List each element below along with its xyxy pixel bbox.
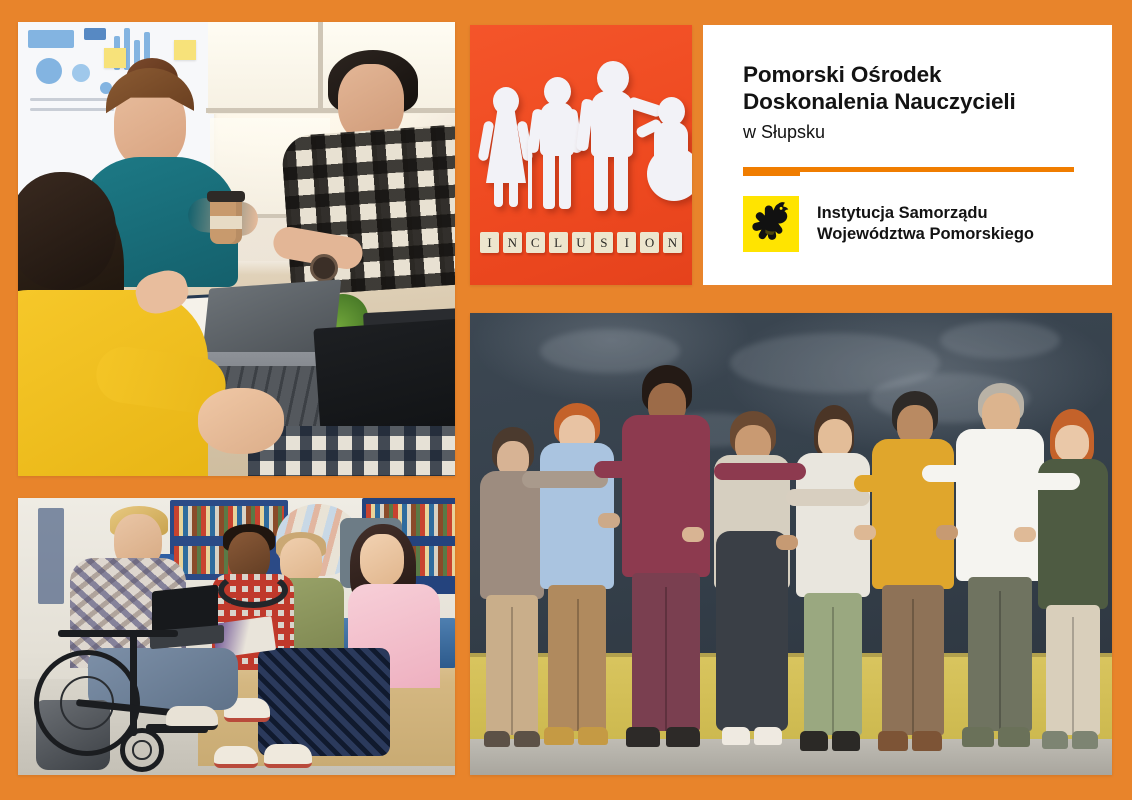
hand [682, 527, 704, 542]
hand [936, 525, 958, 540]
arm-link [786, 489, 870, 506]
tile-letter: O [640, 232, 659, 253]
tile-letter: U [572, 232, 591, 253]
paper-figure-girl-dress [484, 87, 528, 207]
photo-group-embrace [470, 313, 1112, 775]
hand [1014, 527, 1036, 542]
photo-team-meeting [18, 22, 455, 476]
group-person [792, 405, 874, 757]
arm-link [714, 463, 806, 480]
paper-figure-person-with-cane [534, 77, 580, 209]
organization-name-line1: Pomorski Ośrodek [743, 61, 1088, 88]
person-yellow-head [18, 172, 116, 290]
tile-letter: S [594, 232, 613, 253]
organization-logo-panel: Pomorski Ośrodek Doskonalenia Nauczyciel… [703, 25, 1112, 285]
orange-divider [743, 167, 1088, 176]
wristwatch [310, 254, 338, 282]
group-person [538, 403, 616, 757]
institution-name: Instytucja Samorządu Województwa Pomorsk… [817, 203, 1034, 247]
person-foreground-hand [198, 388, 284, 454]
group-person [870, 391, 958, 757]
organization-name: Pomorski Ośrodek Doskonalenia Nauczyciel… [743, 61, 1088, 116]
student-pink-head [360, 534, 404, 586]
tile-letter: I [617, 232, 636, 253]
inclusion-letter-tiles: I N C L U S I O N [480, 232, 682, 253]
hand [598, 513, 620, 528]
person-plaid-shirt [281, 124, 455, 297]
tile-letter: L [549, 232, 568, 253]
organization-name-line2: Doskonalenia Nauczycieli [743, 88, 1088, 115]
hand [776, 535, 798, 550]
tile-letter: N [503, 232, 522, 253]
organization-city: w Słupsku [743, 121, 1088, 144]
group-person [1036, 409, 1112, 757]
arm-link [994, 473, 1080, 490]
divider-thick-line [743, 167, 800, 176]
hand [854, 525, 876, 540]
tile-letter: I [480, 232, 499, 253]
coffee-cup [210, 198, 242, 244]
institution-name-line2: Województwa Pomorskiego [817, 224, 1034, 246]
pomeranian-griffin-crest-icon [743, 196, 799, 252]
student-patterned-trousers [258, 648, 390, 756]
headphones [218, 572, 288, 608]
group-person [954, 383, 1046, 757]
arm-link [594, 461, 690, 478]
collage-canvas: I N C L U S I O N Pomorski Ośrodek Dosko… [0, 0, 1132, 800]
photo-library-students [18, 498, 455, 775]
group-person [618, 365, 714, 757]
paper-figure-person-in-wheelchair [648, 97, 692, 213]
wheelchair-caster [120, 728, 164, 772]
institution-row: Instytucja Samorządu Województwa Pomorsk… [743, 196, 1088, 252]
inclusion-graphic-panel: I N C L U S I O N [470, 25, 692, 285]
tile-letter: N [663, 232, 682, 253]
paper-figure-tall-person [584, 61, 640, 211]
institution-name-line1: Instytucja Samorządu [817, 203, 1034, 225]
tile-letter: C [526, 232, 545, 253]
